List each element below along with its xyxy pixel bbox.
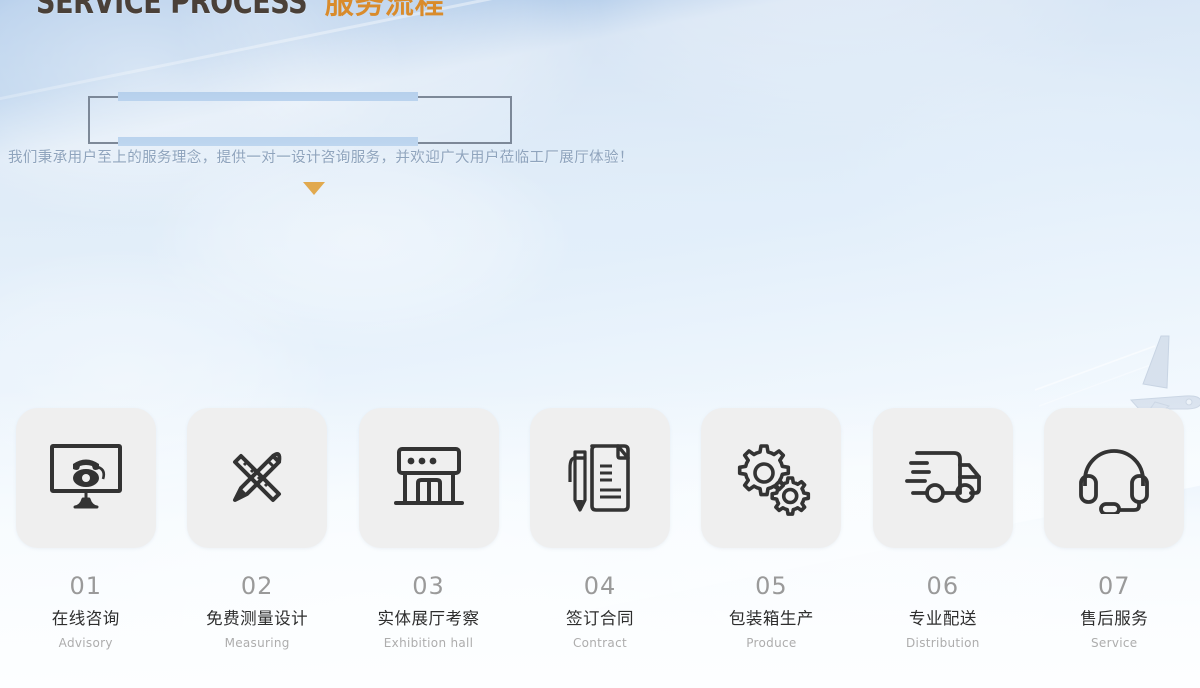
step-number: 01 [69,574,102,598]
step-label-cn: 签订合同 [566,611,634,628]
step-item[interactable]: 06 专业配送 Distribution [857,408,1028,649]
page-subtitle: 我们秉承用户至上的服务理念，提供一对一设计咨询服务，并欢迎广大用户莅临工厂展厅体… [8,146,634,167]
ruler-pencil-icon [219,440,295,516]
step-number: 02 [241,574,274,598]
step-item[interactable]: 03 实体展厅考察 Exhibition hall [343,408,514,649]
step-icon-card[interactable] [16,408,156,548]
step-number: 07 [1098,574,1131,598]
frame-gap-top [118,92,418,101]
step-label-en: Measuring [225,637,290,649]
step-label-cn: 专业配送 [909,611,977,628]
step-icon-card[interactable] [187,408,327,548]
step-item[interactable]: 01 在线咨询 Advisory [0,408,171,649]
storefront-icon [391,445,467,511]
page-title-cn: 服务流程 [325,0,445,22]
page-title-en: SERVICE PROCESS [36,0,307,21]
step-label-cn: 包装箱生产 [729,611,814,628]
frame-gap-bottom [118,137,418,146]
step-item[interactable]: 04 签订合同 Contract [514,408,685,649]
page-title: SERVICE PROCESS 服务流程 [28,0,453,22]
step-label-cn: 免费测量设计 [206,611,308,628]
step-number: 05 [755,574,788,598]
cloud-decoration [840,40,1200,300]
step-number: 03 [412,574,445,598]
step-icon-card[interactable] [530,408,670,548]
step-label-cn: 售后服务 [1080,611,1148,628]
step-label-en: Contract [573,637,627,649]
service-process-banner: SERVICE PROCESS 服务流程 我们秉承用户至上的服务理念，提供一对一… [0,0,1200,688]
step-label-en: Advisory [59,637,113,649]
step-icon-card[interactable] [1044,408,1184,548]
step-icon-card[interactable] [359,408,499,548]
step-item[interactable]: 02 免费测量设计 Measuring [171,408,342,649]
monitor-phone-icon [47,442,125,514]
step-item[interactable]: 07 售后服务 Service [1029,408,1200,649]
gears-icon [730,440,812,516]
headset-icon [1075,442,1153,514]
step-icon-card[interactable] [701,408,841,548]
delivery-truck-icon [901,447,985,509]
step-item[interactable]: 05 包装箱生产 Produce [686,408,857,649]
pen-document-icon [562,442,638,514]
step-icon-card[interactable] [873,408,1013,548]
step-label-en: Exhibition hall [384,637,474,649]
caret-down-icon [303,182,325,195]
step-label-cn: 在线咨询 [52,611,120,628]
step-number: 04 [584,574,617,598]
step-label-en: Distribution [906,637,980,649]
step-label-en: Service [1091,637,1137,649]
service-steps-list: 01 在线咨询 Advisory [0,408,1200,649]
cloud-decoration [560,0,1120,140]
step-number: 06 [927,574,960,598]
step-label-en: Produce [746,637,796,649]
step-label-cn: 实体展厅考察 [378,611,480,628]
